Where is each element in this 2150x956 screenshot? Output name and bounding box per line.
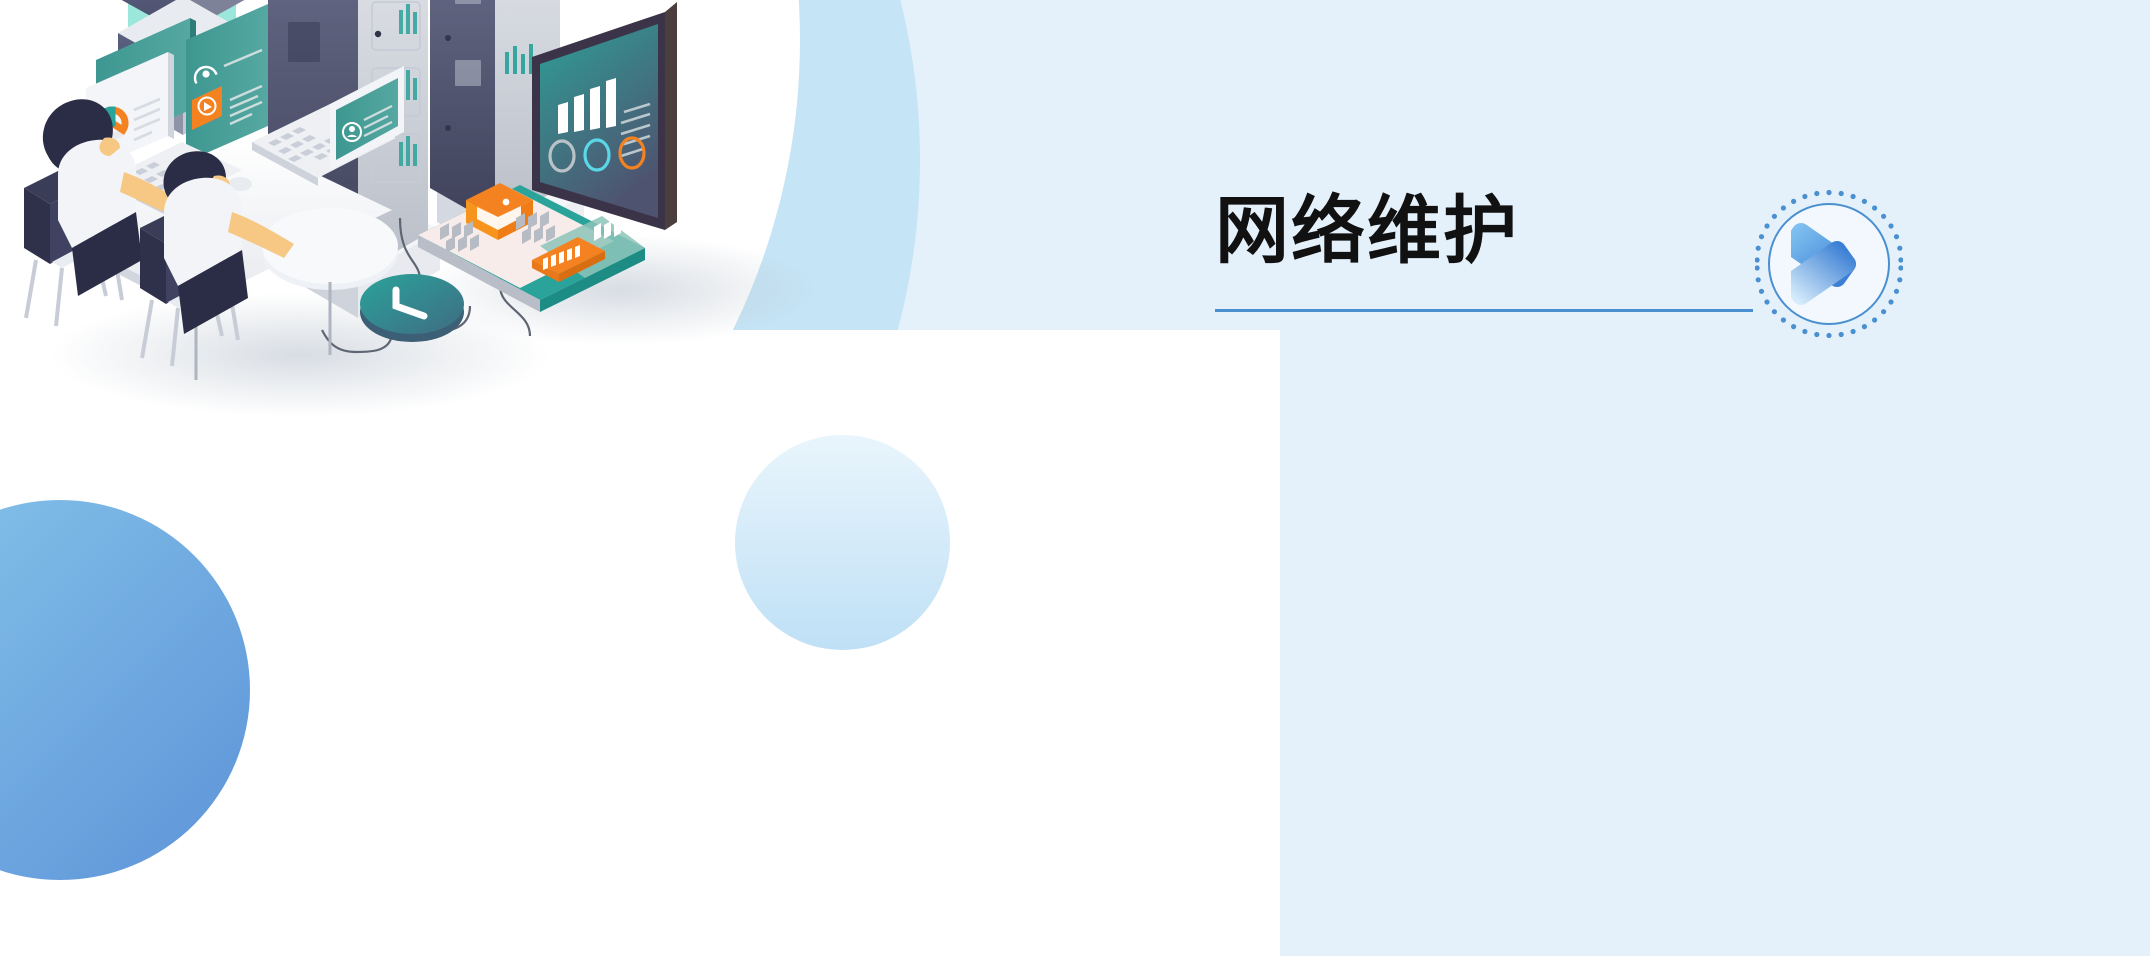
background-arc-mask	[0, 0, 800, 700]
stacked-cube	[118, 0, 248, 135]
monitor-bar-chart	[96, 18, 196, 152]
background-circle-blue	[0, 500, 250, 880]
body-left	[58, 140, 136, 248]
arm-left	[120, 172, 186, 218]
neck-left	[99, 137, 120, 156]
server-vent-panels	[372, 2, 420, 182]
chair-left	[24, 156, 122, 326]
tablet-bar-chart	[558, 78, 616, 134]
doc-orange-badge	[532, 237, 605, 282]
keyboard-left	[108, 142, 242, 216]
network-cables	[322, 218, 530, 352]
dashboard-tablet	[532, 2, 677, 230]
background-arc-top-left	[0, 0, 920, 820]
background-circle-light-blue	[735, 435, 950, 650]
monitor-cursor-panel	[186, 52, 268, 162]
server-tower-right	[430, 0, 584, 270]
operator-right	[140, 151, 294, 366]
workstation	[48, 4, 404, 380]
monitor-donut-chart	[86, 52, 174, 198]
chair-right	[140, 196, 238, 366]
network-operations-illustration	[0, 0, 960, 520]
status-disc	[360, 274, 464, 342]
clock-hands	[396, 290, 424, 316]
hair-right	[163, 151, 226, 208]
tablet-status-circle-grey	[550, 141, 574, 171]
server-tower-left	[255, 0, 440, 318]
operator-left	[24, 99, 186, 326]
doc-white-bars	[594, 219, 621, 241]
hair-left	[43, 99, 113, 172]
tablet-text-lines	[621, 104, 650, 156]
arm-right	[228, 212, 294, 258]
chevron-right-icon	[1791, 222, 1867, 306]
tablet-status-circle-cyan	[585, 140, 609, 170]
chevron-arrow-logo[interactable]	[1755, 190, 1903, 338]
tablet-status-circle-orange	[620, 138, 644, 168]
background-curve-panel	[410, 0, 2150, 956]
poster-canvas: 网络维护	[0, 0, 2150, 956]
doc-image-icon	[466, 183, 533, 240]
title-underline-rule	[1215, 309, 1753, 312]
document-card	[418, 183, 645, 312]
legs-left	[72, 212, 142, 296]
background-white-wash	[0, 330, 1280, 956]
doc-text-lines	[440, 211, 555, 253]
laptop	[252, 66, 404, 186]
mouse-left	[228, 177, 252, 191]
body-right	[164, 178, 242, 286]
monitor-profile-panel	[186, 4, 268, 116]
legs-right	[178, 250, 248, 334]
neck-right	[209, 175, 230, 194]
